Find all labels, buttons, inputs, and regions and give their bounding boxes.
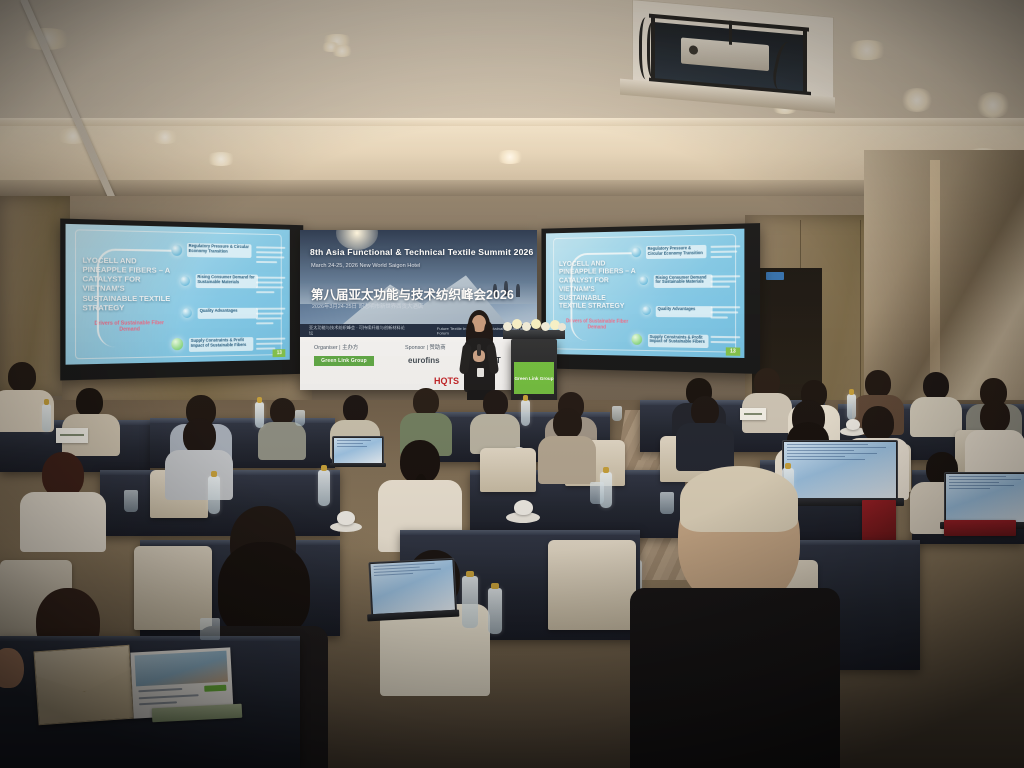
laptop-base: [330, 463, 386, 467]
slide-page-number: 13: [273, 349, 286, 357]
flower-icon: [541, 322, 550, 331]
attendee: [630, 470, 840, 768]
banner-strip-left-text: 亚太功能与技术纺织峰会 · 可持续纤维与创新材料论坛: [309, 325, 407, 336]
laptop-display: [334, 438, 382, 463]
slide-body-text-4: [711, 336, 740, 347]
downlight-icon: [150, 130, 180, 144]
projection-screen-left: LYOCELL AND PINEAPPLE FIBERS – A CATALYS…: [60, 219, 303, 381]
attendee-head: [553, 408, 582, 439]
slide-right: LYOCELL AND PINEAPPLE FIBERS – A CATALYS…: [546, 229, 744, 358]
sponsor-label: Sponsor | 赞助商: [405, 343, 446, 351]
slide-connector-curve: [97, 248, 178, 348]
table-top-edge: [0, 636, 300, 641]
attendee-head: [691, 396, 719, 426]
slide-node-1: [171, 244, 182, 255]
attendee-head: [865, 370, 891, 398]
water-bottle: [318, 470, 330, 506]
slide-node-4: [171, 338, 183, 350]
hiker-silhouette: [516, 284, 520, 297]
table-name-card: [56, 428, 88, 443]
attendee: [20, 452, 106, 548]
flower-icon: [522, 322, 531, 331]
attendee-head: [413, 388, 439, 416]
foreground-hand: [0, 648, 24, 688]
red-notebook[interactable]: [944, 520, 1016, 536]
slide-page-number: 13: [726, 347, 740, 356]
projector-mount-arm: [803, 29, 807, 95]
audience-chair[interactable]: [480, 448, 536, 492]
slide-body-text-1: [711, 246, 740, 262]
laptop-display: [946, 474, 1024, 522]
table-name-card: [740, 408, 766, 420]
attendee-torso: [20, 492, 106, 552]
projection-screen-right: LYOCELL AND PINEAPPLE FIBERS – A CATALYS…: [541, 223, 760, 374]
attendee-head: [483, 390, 508, 417]
flower-icon: [503, 322, 512, 331]
sponsor-logo-eurofins: eurofins: [408, 356, 440, 365]
attendee: [910, 372, 962, 434]
drinking-glass: [295, 410, 305, 426]
attendee-torso: [676, 423, 734, 471]
water-bottle: [462, 576, 478, 628]
brochure-cta-button[interactable]: [204, 685, 226, 692]
downlight-icon: [975, 92, 1011, 118]
attendee-hair: [218, 542, 310, 638]
laptop[interactable]: [364, 558, 459, 627]
slide-node-label-3: Quality Advantages: [656, 306, 713, 317]
projector-lens-icon: [689, 45, 698, 55]
attendee: [470, 390, 520, 452]
organiser-label: Organiser | 主办方: [314, 343, 358, 351]
ceiling-panel: [0, 0, 1024, 120]
water-bottle: [255, 402, 264, 428]
projector-vent: [751, 47, 763, 66]
slide-left: LYOCELL AND PINEAPPLE FIBERS – A CATALYS…: [66, 224, 290, 365]
slide-node-4: [632, 333, 643, 344]
drinking-glass: [200, 618, 220, 640]
slide-node-label-1: Regulatory Pressure & Circular Economy T…: [646, 245, 707, 259]
speaker-badge: [477, 368, 484, 377]
attendee-torso: [165, 450, 233, 500]
audience-chair[interactable]: [548, 540, 636, 630]
attendee: [165, 418, 233, 496]
podium-sign: Green Link Group: [514, 362, 554, 394]
laptop[interactable]: [330, 436, 386, 468]
attendee-torso: [630, 588, 840, 768]
projector-cable: [647, 21, 660, 78]
kraft-envelope[interactable]: [34, 645, 135, 726]
slide-node-2: [180, 276, 190, 286]
slide-node-label-2: Rising Consumer Demand for Sustainable M…: [196, 274, 258, 288]
attendee-torso: [538, 436, 596, 484]
water-bottle: [42, 404, 51, 432]
summit-date-venue-cn: 2026年3月24-25日 胡志明市新世界西贡大酒店: [312, 302, 423, 310]
attendee-torso: [910, 397, 962, 437]
slide-connector-curve: [570, 252, 637, 341]
coffee-cup: [514, 500, 533, 515]
attendee-head: [862, 406, 894, 441]
attendee-torso: [258, 422, 306, 460]
attendee-head: [923, 372, 949, 400]
slide-node-label-4: Supply Constraints & Profit Impact of Su…: [648, 334, 709, 348]
table-top-edge: [400, 530, 640, 535]
downlight-icon: [205, 152, 237, 166]
podium-flower-arrangement: [501, 317, 567, 333]
attendee-head: [8, 362, 36, 392]
slide-body-text-1: [256, 246, 285, 266]
slide-body-text-3: [256, 308, 285, 328]
water-bottle: [521, 400, 530, 426]
laptop-screen: [332, 436, 384, 465]
attendee-head: [754, 368, 780, 396]
summit-title-cn: 第八届亚太功能与技术纺织峰会2026: [311, 284, 514, 303]
slide-node-label-2: Rising Consumer Demand for Sustainable M…: [654, 274, 713, 288]
laptop-screen: [944, 472, 1024, 524]
cove-light: [0, 118, 1024, 126]
slide-body-text-3: [711, 306, 740, 322]
conference-photo-scene: LYOCELL AND PINEAPPLE FIBERS – A CATALYS…: [0, 0, 1024, 768]
brochure-cover-image: [135, 651, 228, 686]
flower-icon: [512, 319, 522, 329]
attendee-head: [343, 395, 368, 423]
water-bottle: [488, 588, 502, 634]
attendee: [538, 408, 596, 480]
brochure-text-line: [139, 702, 177, 706]
exit-sign-icon: [766, 272, 784, 280]
brochure-text-line: [138, 688, 182, 692]
attendee-head: [76, 388, 103, 417]
brochure-text-line: [139, 694, 199, 699]
attendee: [676, 396, 734, 468]
downlight-icon: [900, 88, 934, 112]
attendee-head: [980, 400, 1010, 433]
flower-icon: [558, 323, 566, 331]
laptop-screen: [368, 558, 457, 616]
drinking-glass: [590, 482, 604, 504]
laptop-display: [370, 560, 455, 614]
attendee: [258, 398, 306, 458]
slide-node-label-1: Regulatory Pressure & Circular Economy T…: [187, 243, 252, 258]
envelope-flap: [35, 646, 132, 695]
attendee: [62, 388, 120, 454]
drinking-glass: [612, 406, 622, 421]
flower-icon: [531, 319, 541, 329]
downlight-icon: [330, 45, 354, 57]
drinking-glass: [124, 490, 138, 512]
attendee-hair: [680, 466, 798, 532]
attendee-head: [270, 398, 295, 425]
slide-body-text-2: [711, 275, 740, 291]
slide-node-label-3: Quality Advantages: [198, 308, 258, 320]
summit-date-venue: March 24-25, 2026 New World Saigon Hotel: [311, 263, 420, 269]
downlight-icon: [495, 150, 525, 164]
downlight-icon: [845, 40, 889, 60]
slide-node-3: [642, 306, 651, 315]
coffee-cup: [337, 511, 355, 525]
summit-title-en: 8th Asia Functional & Technical Textile …: [310, 247, 534, 257]
organiser-logo: Green Link Group: [314, 356, 374, 366]
slide-node-label-4: Supply Constraints & Profit Impact of Su…: [189, 337, 254, 352]
slide-body-text-2: [256, 276, 285, 296]
attendee-head: [183, 418, 216, 454]
slide-node-3: [182, 308, 192, 318]
projector-mount-arm: [729, 21, 732, 45]
microphone-icon[interactable]: [477, 344, 481, 356]
